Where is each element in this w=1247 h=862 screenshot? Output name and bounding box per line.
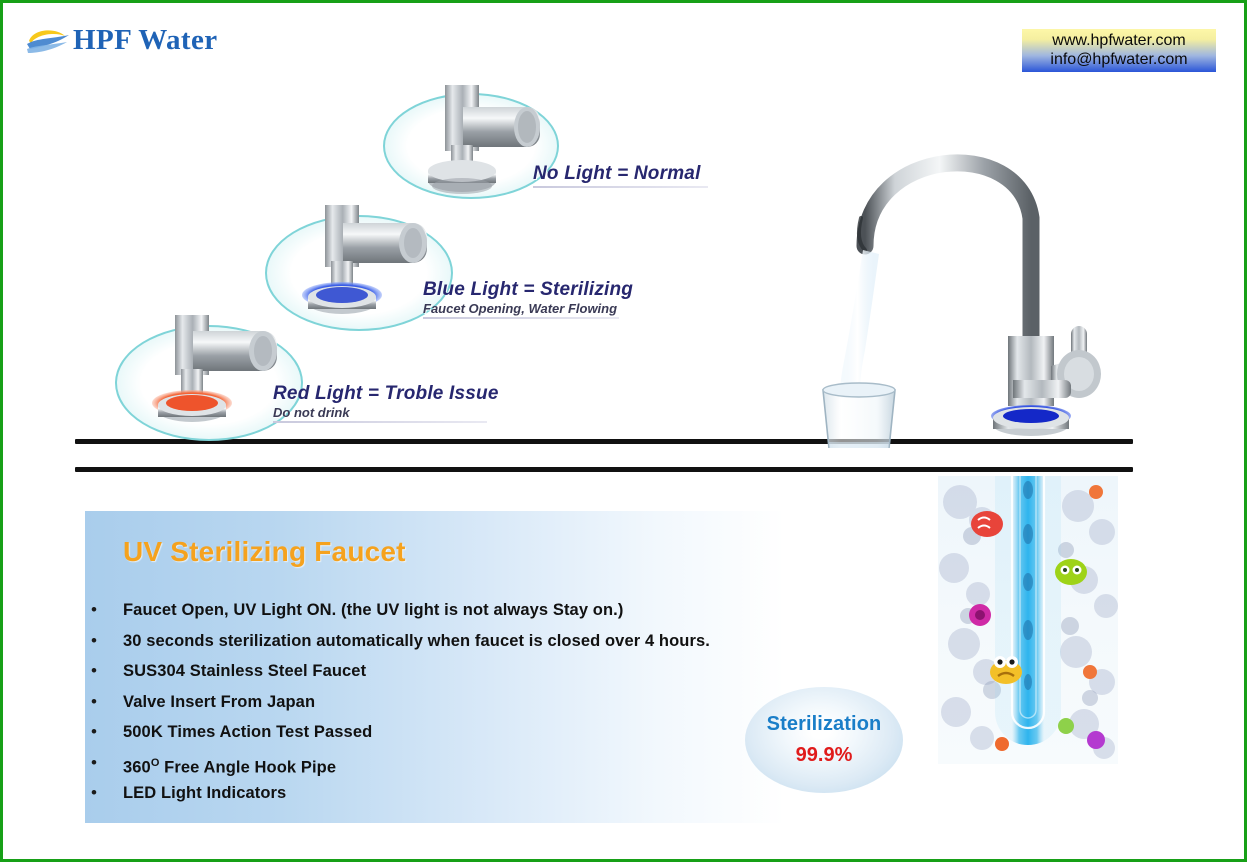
- indicator-title: No Light = Normal: [533, 163, 708, 185]
- germ-orange: [995, 737, 1009, 751]
- germ-magenta: [969, 604, 991, 626]
- list-item: • Faucet Open, UV Light ON. (the UV ligh…: [91, 599, 851, 630]
- germ-green: [1055, 559, 1087, 585]
- contact-info-box: www.hpfwater.com info@hpfwater.com: [1022, 29, 1216, 72]
- indicator-label-block: Red Light = Troble Issue Do not drink: [273, 383, 499, 423]
- bullet-label: Valve Insert From Japan: [123, 691, 315, 713]
- bullet-label: LED Light Indicators: [123, 782, 286, 804]
- list-item: • 360O Free Angle Hook Pipe: [91, 752, 851, 783]
- germ-purple: [1087, 731, 1105, 749]
- panel-title: UV Sterilizing Faucet: [123, 536, 406, 568]
- slide-canvas: HPF Water www.hpfwater.com info@hpfwater…: [0, 0, 1247, 862]
- label-underline: [273, 421, 487, 423]
- bullet-marker: •: [91, 660, 123, 682]
- uv-lamp-germs-image: [938, 476, 1118, 764]
- degree-prefix: 360: [123, 758, 151, 776]
- bullet-label: 500K Times Action Test Passed: [123, 721, 372, 743]
- list-item: • LED Light Indicators: [91, 782, 851, 813]
- feature-bullet-list: • Faucet Open, UV Light ON. (the UV ligh…: [91, 599, 851, 813]
- bullet-marker: •: [91, 630, 123, 652]
- sterilization-badge: Sterilization 99.9%: [745, 687, 903, 793]
- bullet-marker: •: [91, 752, 123, 774]
- germ-orange: [1089, 485, 1103, 499]
- indicator-subtitle: Do not drink: [273, 405, 499, 420]
- brand-logo: HPF Water: [25, 25, 218, 55]
- indicator-label-block: No Light = Normal: [533, 163, 708, 188]
- indicator-title: Red Light = Troble Issue: [273, 383, 499, 405]
- bullet-marker: •: [91, 599, 123, 621]
- list-item: • Valve Insert From Japan: [91, 691, 851, 722]
- bullet-marker: •: [91, 721, 123, 743]
- faucet-head-icon: [135, 311, 295, 439]
- sterilization-label: Sterilization: [767, 713, 882, 736]
- indicator-red-light: Red Light = Troble Issue Do not drink: [115, 311, 515, 439]
- faucet-head-icon: [401, 85, 551, 203]
- bullet-label: Faucet Open, UV Light ON. (the UV light …: [123, 599, 623, 621]
- contact-email[interactable]: info@hpfwater.com: [1026, 50, 1212, 69]
- germ-red: [971, 511, 1003, 537]
- germ-orange: [1083, 665, 1097, 679]
- degree-superscript: O: [151, 757, 160, 769]
- indicator-title: Blue Light = Sterilizing: [423, 279, 633, 301]
- bullet-label: 30 seconds sterilization automatically w…: [123, 630, 710, 652]
- indicator-no-light: No Light = Normal: [383, 85, 723, 205]
- brand-name: HPF Water: [73, 25, 218, 55]
- water-glass-image: [823, 390, 895, 448]
- water-wave-sun-icon: [25, 25, 71, 55]
- water-stream: [840, 250, 879, 398]
- label-underline: [533, 186, 708, 188]
- bullet-marker: •: [91, 782, 123, 804]
- sterilization-value: 99.9%: [796, 744, 853, 767]
- germ-green-small: [1058, 718, 1074, 734]
- list-item: • 500K Times Action Test Passed: [91, 721, 851, 752]
- bullet-marker: •: [91, 691, 123, 713]
- list-item: • SUS304 Stainless Steel Faucet: [91, 660, 851, 691]
- germ-yellow: [990, 656, 1022, 684]
- gooseneck-faucet-image: [803, 98, 1133, 448]
- contact-website[interactable]: www.hpfwater.com: [1026, 31, 1212, 50]
- bullet-label: SUS304 Stainless Steel Faucet: [123, 660, 366, 682]
- countertop-line-lower: [75, 467, 1133, 472]
- bullet-label-degree: 360O Free Angle Hook Pipe: [123, 752, 336, 779]
- list-item: • 30 seconds sterilization automatically…: [91, 630, 851, 661]
- degree-suffix: Free Angle Hook Pipe: [160, 758, 337, 776]
